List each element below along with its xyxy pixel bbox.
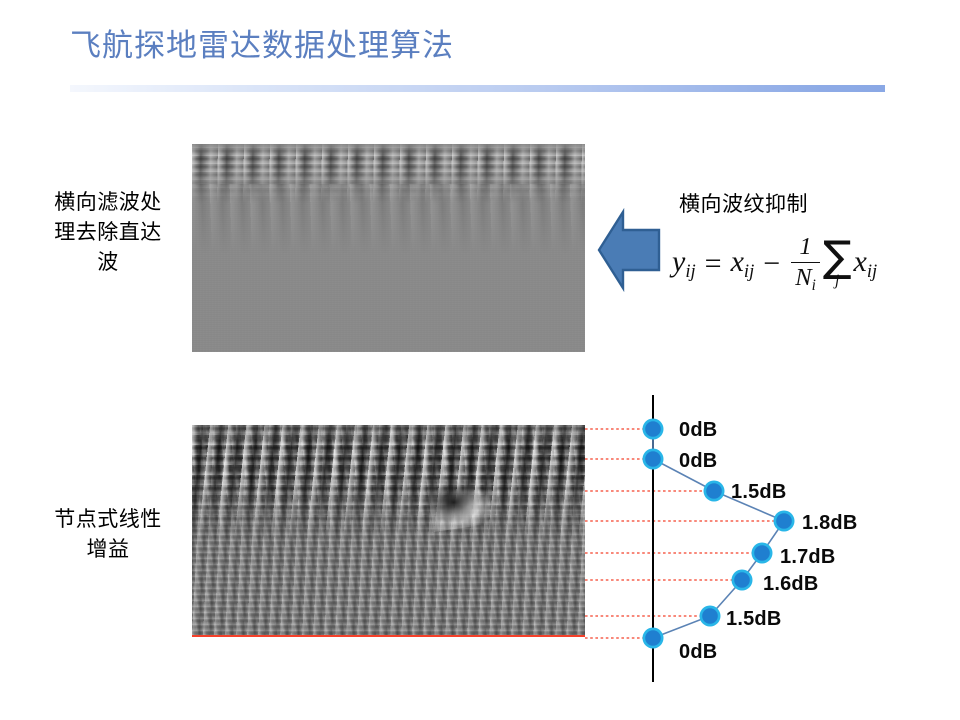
formula-fraction-denominator: Ni (791, 265, 820, 293)
gain-node-label: 1.6dB (763, 573, 818, 596)
sigma-icon: ∑ (823, 240, 852, 275)
formula-term2: xij (854, 245, 878, 283)
radargram-shallow-reflections-layer (192, 425, 585, 545)
formula-minus: − (763, 247, 780, 281)
gain-node-label: 1.7dB (780, 546, 835, 569)
page-title: 飞航探地雷达数据处理算法 (70, 26, 454, 66)
left-arrow-icon (597, 208, 663, 292)
radargram-direct-wave-removed (192, 144, 585, 352)
gain-node-label: 1.8dB (802, 512, 857, 535)
gain-node-label: 1.5dB (731, 481, 786, 504)
formula-summation: ∑ j (823, 240, 852, 288)
radargram-hyperbola-anomaly (427, 476, 493, 532)
title-underline-rule (70, 85, 885, 92)
radargram-surface-streaks-layer (192, 144, 585, 204)
gain-node-marker[interactable] (645, 421, 661, 437)
gain-node-marker[interactable] (645, 451, 661, 467)
formula-equals: = (705, 247, 722, 281)
ripple-suppression-formula: yij = xij − 1 Ni ∑ j xij (672, 224, 952, 304)
gain-node-label: 0dB (679, 641, 717, 664)
formula-sum-index: j (835, 275, 839, 288)
gain-curve-line (653, 429, 784, 638)
row-caption-filtering: 横向滤波处理去除直达波 (48, 188, 168, 278)
gain-node-marker[interactable] (754, 545, 770, 561)
formula-fraction-numerator: 1 (795, 234, 815, 259)
gain-node-marker[interactable] (776, 513, 792, 529)
gain-node-plot (560, 385, 960, 705)
gain-node-label: 0dB (679, 450, 717, 473)
formula-lhs: yij (672, 245, 696, 283)
radargram-node-linear-gain (192, 425, 585, 637)
gain-node-label: 0dB (679, 419, 717, 442)
gain-node-marker[interactable] (706, 483, 722, 499)
gain-node-marker[interactable] (734, 572, 750, 588)
ripple-suppression-label: 横向波纹抑制 (679, 188, 808, 218)
row-caption-linear-gain: 节点式线性增益 (48, 505, 168, 565)
formula-fraction-bar (791, 262, 820, 264)
gain-node-marker[interactable] (702, 608, 718, 624)
formula-term1: xij (731, 245, 755, 283)
radargram-baseline (192, 635, 585, 637)
formula-fraction: 1 Ni (791, 234, 820, 293)
gain-node-marker[interactable] (645, 630, 661, 646)
gain-node-label: 1.5dB (726, 608, 781, 631)
